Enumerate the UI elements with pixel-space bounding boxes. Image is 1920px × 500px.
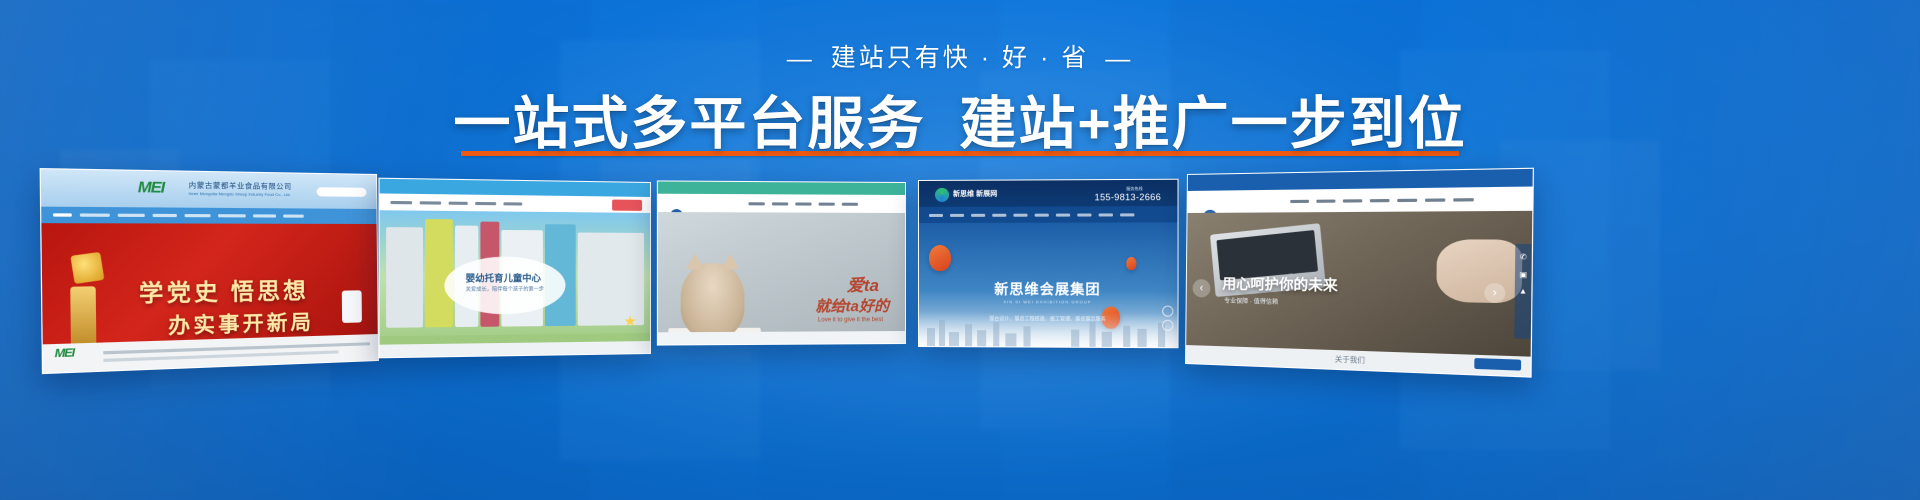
banner-headline: 一站式多平台服务建站+推广一步到位 — [453, 94, 1466, 156]
hero-line-1: 婴幼托育儿童中心 — [466, 271, 541, 284]
showcase-card-exhibition-site[interactable]: 新思维 新展网 服务热线 155-9813-2666 新思维会展集团 XIN S… — [918, 179, 1179, 349]
party-emblem-icon — [70, 252, 104, 284]
side-phone-icon[interactable]: ✆ — [1515, 253, 1532, 262]
card-viewport: 爱宠国际动物医院 爱ta 就给ta好的 Love it to give it t… — [658, 181, 905, 344]
site-footer — [380, 341, 650, 357]
mei-logo: MEI — [138, 178, 165, 197]
showcase-card-pet-site[interactable]: 爱宠国际动物医院 爱ta 就给ta好的 Love it to give it t… — [657, 180, 906, 345]
site-hero: 婴幼托育儿童中心 关爱成长，陪伴每个孩子的第一步 — [380, 210, 650, 357]
side-badge[interactable] — [342, 290, 362, 323]
site-hero: 新思维会展集团 XIN SI WEI EXHIBITION GROUP 展台设计… — [919, 222, 1178, 347]
headline-part-1: 一站式多平台服务 — [453, 92, 925, 156]
float-contact-icon[interactable] — [1162, 306, 1173, 317]
hero-line-1: 学党史 悟思想 — [139, 273, 309, 309]
site-footer — [658, 331, 905, 345]
company-name: 内蒙古蒙都羊业食品有限公司 Inner Mongolia Mengdu Shee… — [189, 180, 292, 197]
hero-banner: —建站只有快 · 好 · 省— 一站式多平台服务建站+推广一步到位 MEI 内蒙… — [0, 0, 1920, 500]
hand-photo — [1436, 239, 1522, 303]
hero-subtext: 专业保障 · 值得信赖 — [1224, 296, 1278, 306]
headline-part-2: 建站+推广一步到位 — [959, 92, 1466, 156]
headline-block: —建站只有快 · 好 · 省— 一站式多平台服务建站+推广一步到位 — [0, 46, 1920, 155]
carousel-next-button[interactable]: › — [1484, 283, 1505, 303]
side-top-icon[interactable]: ▲ — [1515, 288, 1532, 296]
side-qr-icon[interactable]: ▣ — [1515, 270, 1532, 279]
showcase-card-insurance-site[interactable]: 中国人寿保险 用心呵护你的未来 专业保障 · 值得信赖 ‹ › ✆ ▣ ▲ — [1185, 168, 1534, 378]
hero-line-1: 爱ta — [847, 271, 879, 296]
banner-subtitle: —建站只有快 · 好 · 省— — [0, 46, 1920, 72]
search-input[interactable] — [317, 187, 367, 197]
site-logo-badge — [612, 200, 642, 211]
carousel-prev-button[interactable]: ‹ — [1193, 279, 1211, 297]
card-viewport: 婴幼托育儿童中心 关爱成长，陪伴每个孩子的第一步 — [380, 179, 650, 358]
website-showcase: MEI 内蒙古蒙都羊业食品有限公司 Inner Mongolia Mengdu … — [0, 168, 1920, 383]
showcase-card-party-site[interactable]: MEI 内蒙古蒙都羊业食品有限公司 Inner Mongolia Mengdu … — [40, 168, 379, 374]
showcase-card-kindergarten-site[interactable]: 婴幼托育儿童中心 关爱成长，陪伴每个孩子的第一步 — [378, 178, 651, 359]
company-pinyin: Inner Mongolia Mengdu Sheep Industry Foo… — [189, 191, 292, 197]
hero-subtext: Love it to give it the best — [818, 317, 883, 323]
subtitle-dash-right: — — [1105, 47, 1133, 72]
footer-text: 关于我们 — [1335, 354, 1365, 366]
side-contact-bar[interactable]: ✆ ▣ ▲ — [1514, 244, 1532, 339]
hero-line-2: 办实事开新局 — [168, 305, 314, 339]
subtitle-text: 建站只有快 · 好 · 省 — [831, 44, 1089, 72]
hero-title: 用心呵护你的未来 — [1222, 273, 1338, 295]
subtitle-dash-left: — — [787, 47, 815, 72]
city-skyline — [919, 312, 1178, 347]
card-viewport: 新思维 新展网 服务热线 155-9813-2666 新思维会展集团 XIN S… — [919, 180, 1178, 347]
hero-pinyin: XIN SI WEI EXHIBITION GROUP — [1003, 299, 1091, 304]
phone-number: 155-9813-2666 — [1095, 192, 1161, 202]
hero-title: 新思维会展集团 — [994, 279, 1100, 299]
card-viewport: MEI 内蒙古蒙都羊业食品有限公司 Inner Mongolia Mengdu … — [41, 169, 378, 373]
globe-logo-icon — [935, 188, 949, 202]
site-navigation[interactable] — [919, 206, 1178, 223]
balloon-icon-1 — [929, 245, 951, 271]
hero-line-2: 就给ta好的 — [815, 295, 889, 316]
site-navigation[interactable] — [41, 207, 376, 224]
cat-photo — [681, 263, 745, 338]
site-header: 新思维 新展网 服务热线 155-9813-2666 — [919, 180, 1178, 207]
footer-button[interactable] — [1474, 358, 1521, 371]
headline-wrapper: 一站式多平台服务建站+推广一步到位 — [453, 94, 1466, 156]
hero-line-2: 关爱成长，陪伴每个孩子的第一步 — [466, 285, 544, 292]
float-phone-icon[interactable] — [1162, 320, 1173, 331]
site-navigation[interactable]: 中国人寿保险 — [1188, 187, 1533, 213]
card-viewport: 中国人寿保险 用心呵护你的未来 专业保障 · 值得信赖 ‹ › ✆ ▣ ▲ — [1186, 169, 1533, 377]
site-navigation[interactable]: 爱宠国际动物医院 — [658, 194, 905, 213]
balloon-icon-2 — [1126, 257, 1136, 270]
site-hero: 爱ta 就给ta好的 Love it to give it the best — [658, 212, 905, 345]
site-brand: 新思维 新展网 — [953, 189, 997, 199]
footer-logo: MEI — [55, 347, 75, 361]
